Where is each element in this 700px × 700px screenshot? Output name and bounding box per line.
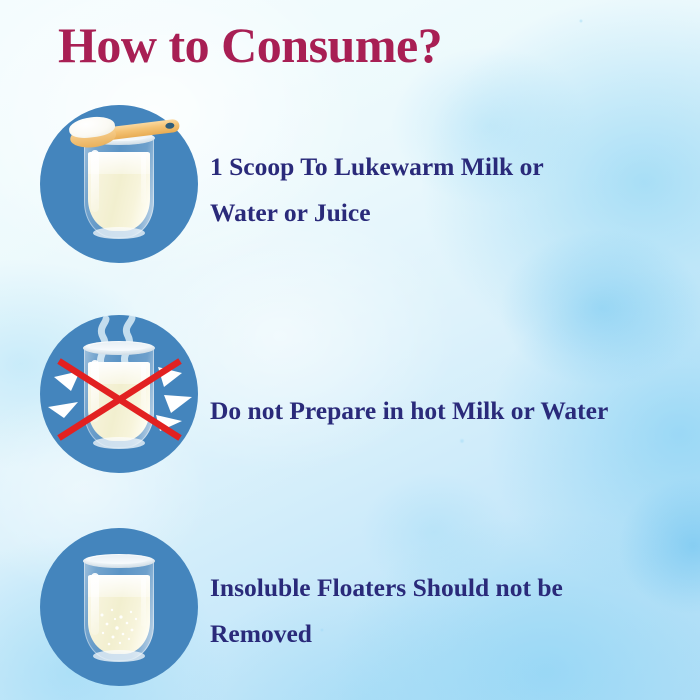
page-title: How to Consume? xyxy=(58,19,442,72)
glass-base xyxy=(93,227,145,239)
step-2-caption: Do not Prepare in hot Milk or Water xyxy=(210,388,690,434)
step-1-line-1: 1 Scoop To Lukewarm Milk or xyxy=(210,144,690,190)
glass-base xyxy=(93,650,145,662)
glass-highlight-left xyxy=(91,150,99,212)
prohibition-cross-icon xyxy=(40,315,198,473)
how-to-consume-poster: How to Consume? 1 Scoop To Lukew xyxy=(0,0,700,700)
no-hot-liquid-icon xyxy=(40,315,198,473)
step-3-line-1: Insoluble Floaters Should not be xyxy=(210,565,690,611)
step-3-caption: Insoluble Floaters Should not be Removed xyxy=(210,565,690,657)
step-1-caption: 1 Scoop To Lukewarm Milk or Water or Jui… xyxy=(210,144,690,236)
glass-rim-inner xyxy=(90,555,148,564)
step-1-line-2: Water or Juice xyxy=(210,190,690,236)
scoop-into-glass-icon xyxy=(40,105,198,263)
glass-highlight-left xyxy=(91,573,99,635)
glass-rim xyxy=(83,554,155,568)
glass-icon xyxy=(84,557,154,661)
glass-highlight-right xyxy=(141,154,146,204)
step-2-line-1: Do not Prepare in hot Milk or Water xyxy=(210,388,690,434)
glass-highlight-right xyxy=(141,577,146,627)
insoluble-floaters-icon xyxy=(40,528,198,686)
step-3-line-2: Removed xyxy=(210,611,690,657)
